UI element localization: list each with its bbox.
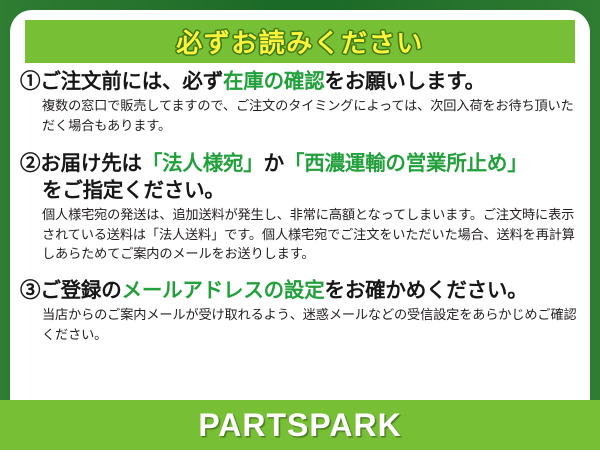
notice-item-1-head-suffix: をお願いします。 (325, 70, 485, 93)
notice-item-3-number: ③ (20, 279, 40, 302)
notice-item-3: ③ご登録のメールアドレスの設定をお確かめください。 当店からのご案内メールが受け… (20, 277, 578, 345)
notice-item-1-head-highlight: 在庫の確認 (223, 70, 325, 93)
notice-item-1-head-prefix: ご注文前には、必ず (40, 70, 223, 93)
notice-header-band: 必ずお読みください (25, 20, 575, 63)
notice-item-2-head-highlight-2: 「西濃運輸の営業所止め」 (284, 152, 528, 175)
notice-item-3-head-highlight: メールアドレスの設定 (122, 279, 325, 302)
notice-item-3-head-prefix: ご登録の (40, 279, 121, 302)
notice-item-1-heading: ①ご注文前には、必ず在庫の確認をお願いします。 (20, 68, 578, 95)
notice-item-2-head-second-line: をご指定ください。 (20, 177, 225, 204)
notice-item-1-number: ① (20, 70, 40, 93)
brand-footer-band: PARTSPARK (0, 400, 600, 450)
notice-banner: 必ずお読みください ①ご注文前には、必ず在庫の確認をお願いします。 複数の窓口で… (0, 0, 600, 450)
notice-item-1-subtext: 複数の窓口で販売してますので、ご注文のタイミングによっては、次回入荷をお待ち頂い… (20, 95, 578, 136)
notice-item-2: ②お届け先は「法人様宛」か「西濃運輸の営業所止め」 をご指定ください。 個人様宅… (20, 150, 578, 264)
notice-panel: 必ずお読みください ①ご注文前には、必ず在庫の確認をお願いします。 複数の窓口で… (10, 10, 590, 450)
notice-item-2-head-middle: か (264, 152, 284, 175)
notice-item-2-subtext: 個人様宅宛の発送は、追加送料が発生し、非常に高額となってしまいます。ご注文時に表… (20, 204, 578, 264)
notice-item-3-subtext: 当店からのご案内メールが受け取れるよう、迷惑メールなどの受信設定をあらかじめご確… (20, 304, 578, 345)
notice-item-2-heading-line2: をご指定ください。 (20, 177, 578, 204)
partspark-logo: PARTSPARK (198, 407, 401, 444)
notice-item-1: ①ご注文前には、必ず在庫の確認をお願いします。 複数の窓口で販売してますので、ご… (20, 68, 578, 136)
notice-header-title: 必ずお読みください (176, 23, 424, 60)
notice-item-2-head-prefix: お届け先は (40, 152, 142, 175)
notice-content: ①ご注文前には、必ず在庫の確認をお願いします。 複数の窓口で販売してますので、ご… (10, 68, 590, 347)
notice-item-2-heading: ②お届け先は「法人様宛」か「西濃運輸の営業所止め」 (20, 150, 578, 177)
notice-item-2-head-highlight: 「法人様宛」 (142, 152, 264, 175)
notice-item-3-heading: ③ご登録のメールアドレスの設定をお確かめください。 (20, 277, 578, 304)
notice-item-3-head-suffix: をお確かめください。 (325, 279, 528, 302)
notice-item-2-number: ② (20, 152, 40, 175)
